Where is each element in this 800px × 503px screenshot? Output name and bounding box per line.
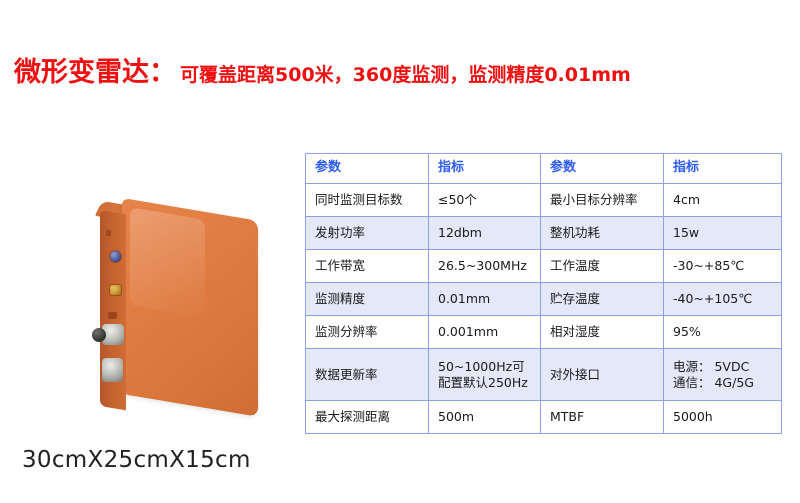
column-header-value-2: 指标 [664,154,782,184]
spec-value: 50~1000Hz可配置默认250Hz [429,349,541,401]
spec-value: 26.5~300MHz [429,250,541,283]
gold-square-connector-icon [109,284,122,296]
spec-value: 电源： 5VDC 通信： 4G/5G [664,349,782,401]
spec-value: -40~+105℃ [664,283,782,316]
spec-value: 12dbm [429,217,541,250]
spec-param: 工作温度 [541,250,664,283]
spec-param: 对外接口 [541,349,664,401]
product-image [88,190,298,440]
device-front-face [122,198,258,417]
page-title: 微形变雷达： 可覆盖距离500米，360度监测，监测精度0.01mm [14,50,631,89]
spec-param: 相对湿度 [541,316,664,349]
table-row: 最大探测距离 500m MTBF 5000h [306,401,782,434]
column-header-value-1: 指标 [429,154,541,184]
column-header-param-1: 参数 [306,154,429,184]
spec-value: 15w [664,217,782,250]
table-row: 发射功率 12dbm 整机功耗 15w [306,217,782,250]
blue-circular-connector-icon [109,250,122,263]
spec-table: 参数 指标 参数 指标 同时监测目标数 ≤50个 最小目标分辨率 4cm 发射功… [305,153,782,434]
silver-connector-lower-icon [102,358,123,382]
radar-device-graphic [88,190,288,430]
spec-value: 95% [664,316,782,349]
spec-param: MTBF [541,401,664,434]
spec-param: 数据更新率 [306,349,429,401]
spec-param: 发射功率 [306,217,429,250]
title-main-text: 微形变雷达： [14,50,176,89]
spec-value: -30~+85℃ [664,250,782,283]
device-nub-icon [106,230,111,236]
spec-value: 0.01mm [429,283,541,316]
spec-param: 最小目标分辨率 [541,184,664,217]
spec-param: 贮存温度 [541,283,664,316]
spec-value: ≤50个 [429,184,541,217]
spec-value: 5000h [664,401,782,434]
column-header-param-2: 参数 [541,154,664,184]
connector-tab-icon [108,312,117,319]
table-row: 数据更新率 50~1000Hz可配置默认250Hz 对外接口 电源： 5VDC … [306,349,782,401]
spec-value: 0.001mm [429,316,541,349]
black-knob-icon [92,328,106,342]
spec-param: 监测分辨率 [306,316,429,349]
spec-param: 同时监测目标数 [306,184,429,217]
spec-param: 整机功耗 [541,217,664,250]
table-row: 工作带宽 26.5~300MHz 工作温度 -30~+85℃ [306,250,782,283]
slide-canvas: 微形变雷达： 可覆盖距离500米，360度监测，监测精度0.01mm 30cmX… [0,0,800,503]
spec-param: 监测精度 [306,283,429,316]
spec-table-header-row: 参数 指标 参数 指标 [306,154,782,184]
spec-param: 最大探测距离 [306,401,429,434]
table-row: 监测分辨率 0.001mm 相对湿度 95% [306,316,782,349]
table-row: 监测精度 0.01mm 贮存温度 -40~+105℃ [306,283,782,316]
spec-value: 4cm [664,184,782,217]
dimension-label: 30cmX25cmX15cm [22,447,251,473]
title-subtitle-text: 可覆盖距离500米，360度监测，监测精度0.01mm [180,60,631,87]
table-row: 同时监测目标数 ≤50个 最小目标分辨率 4cm [306,184,782,217]
spec-param: 工作带宽 [306,250,429,283]
spec-value: 500m [429,401,541,434]
